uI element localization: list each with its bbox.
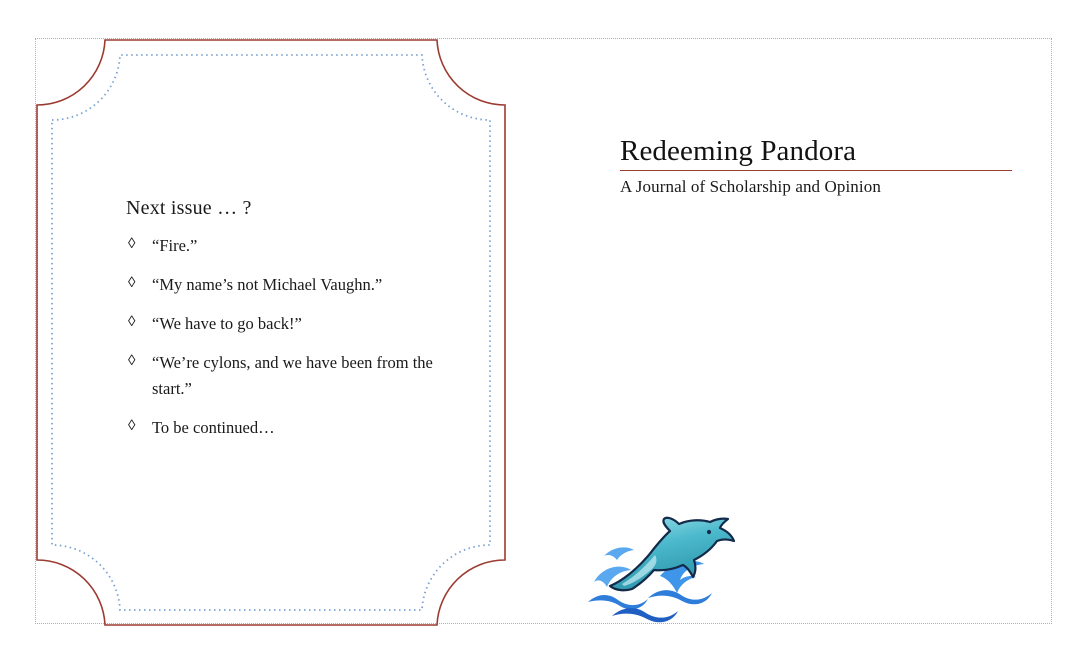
list-item: ◊ “Fire.” (126, 233, 456, 259)
masthead: Redeeming Pandora A Journal of Scholarsh… (620, 136, 1014, 199)
masthead-divider (620, 170, 1012, 171)
list-item-label: “We’re cylons, and we have been from the… (152, 353, 433, 398)
list-item-label: To be continued… (152, 418, 275, 437)
list-item-label: “We have to go back!” (152, 314, 302, 333)
lozenge-bullet-icon: ◊ (128, 272, 135, 296)
list-item: ◊ “We’re cylons, and we have been from t… (126, 350, 456, 402)
next-issue-list: ◊ “Fire.” ◊ “My name’s not Michael Vaugh… (126, 233, 456, 441)
wave-band-lower-icon (612, 608, 678, 622)
wave-band-mid-icon (648, 590, 712, 604)
list-item: ◊ “We have to go back!” (126, 311, 456, 337)
lozenge-bullet-icon: ◊ (128, 311, 135, 335)
dolphin-illustration (582, 498, 742, 626)
list-item: ◊ “My name’s not Michael Vaughn.” (126, 272, 456, 298)
newsletter-page: Next issue … ? ◊ “Fire.” ◊ “My name’s no… (0, 0, 1089, 660)
journal-title: Redeeming Pandora (620, 136, 1014, 166)
next-issue-heading: Next issue … ? (126, 196, 456, 221)
lozenge-bullet-icon: ◊ (128, 415, 135, 439)
splash-small-icon (604, 547, 634, 560)
next-issue-panel: Next issue … ? ◊ “Fire.” ◊ “My name’s no… (126, 196, 456, 454)
journal-subtitle: A Journal of Scholarship and Opinion (620, 176, 1014, 198)
lozenge-bullet-icon: ◊ (128, 233, 135, 257)
list-item-label: “Fire.” (152, 236, 197, 255)
wave-band-upper-icon (588, 595, 648, 609)
lozenge-bullet-icon: ◊ (128, 350, 135, 374)
list-item: ◊ To be continued… (126, 415, 456, 441)
list-item-label: “My name’s not Michael Vaughn.” (152, 275, 382, 294)
